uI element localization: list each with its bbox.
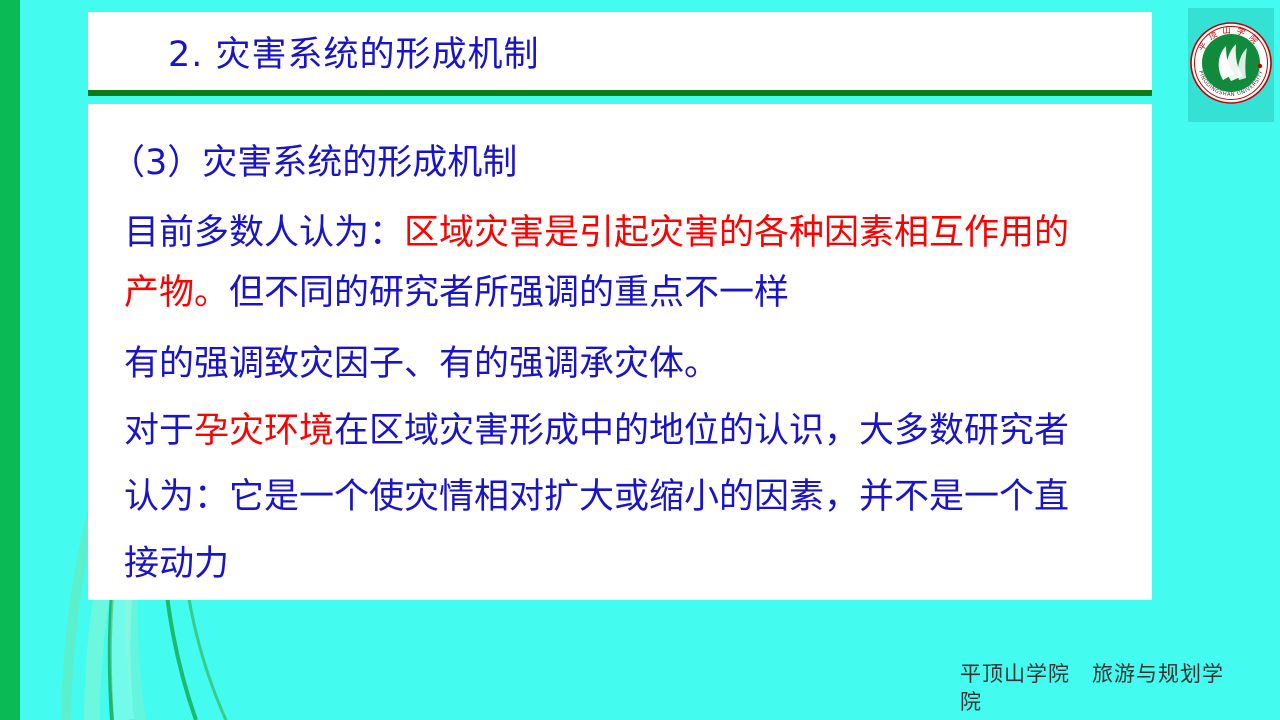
title-panel: 2. 灾害系统的形成机制: [88, 12, 1152, 90]
content-panel: （3）灾害系统的形成机制目前多数人认为：区域灾害是引起灾害的各种因素相互作用的产…: [88, 104, 1152, 600]
slide-footer: 平顶山学院 旅游与规划学院: [960, 660, 1230, 717]
body-line: 对于孕灾环境在区域灾害形成中的地位的认识，大多数研究者: [124, 414, 1069, 449]
body-line: 接动力: [124, 547, 229, 582]
page-title: 2. 灾害系统的形成机制: [168, 26, 540, 77]
text-segment: 在区域灾害形成中的地位的认识，大多数研究者: [334, 411, 1069, 451]
body-line: 产物。但不同的研究者所强调的重点不一样: [124, 276, 789, 311]
text-segment: 认为：它是一个使灾情相对扩大或缩小的因素，并不是一个直: [124, 477, 1069, 517]
body-line: （3）灾害系统的形成机制: [110, 146, 517, 181]
body-line: 目前多数人认为：区域灾害是引起灾害的各种因素相互作用的: [124, 216, 1069, 251]
text-segment: 孕灾环境: [194, 411, 334, 451]
text-segment: 但不同的研究者所强调的重点不一样: [229, 273, 789, 313]
title-underline: [88, 90, 1152, 96]
text-segment: （3）灾害系统的形成机制: [110, 143, 517, 183]
body-line: 认为：它是一个使灾情相对扩大或缩小的因素，并不是一个直: [124, 480, 1069, 515]
pingdingshan-university-logo-icon: 平顶山学院 PINGDINGSHAN UNIVERSITY: [1190, 10, 1272, 116]
text-segment: 区域灾害是引起灾害的各种因素相互作用的: [404, 213, 1069, 253]
text-segment: 有的强调致灾因子、有的强调承灾体。: [124, 344, 719, 384]
body-line: 有的强调致灾因子、有的强调承灾体。: [124, 347, 719, 382]
text-segment: 接动力: [124, 544, 229, 584]
university-logo: 平顶山学院 PINGDINGSHAN UNIVERSITY: [1188, 8, 1274, 122]
text-segment: 目前多数人认为：: [124, 213, 404, 253]
left-accent-bar: [0, 0, 20, 720]
text-segment: 产物。: [124, 273, 229, 313]
presentation-slide: 2. 灾害系统的形成机制 平顶山学院 PINGDINGSHAN UNIVERSI…: [0, 0, 1280, 720]
text-segment: 对于: [124, 411, 194, 451]
